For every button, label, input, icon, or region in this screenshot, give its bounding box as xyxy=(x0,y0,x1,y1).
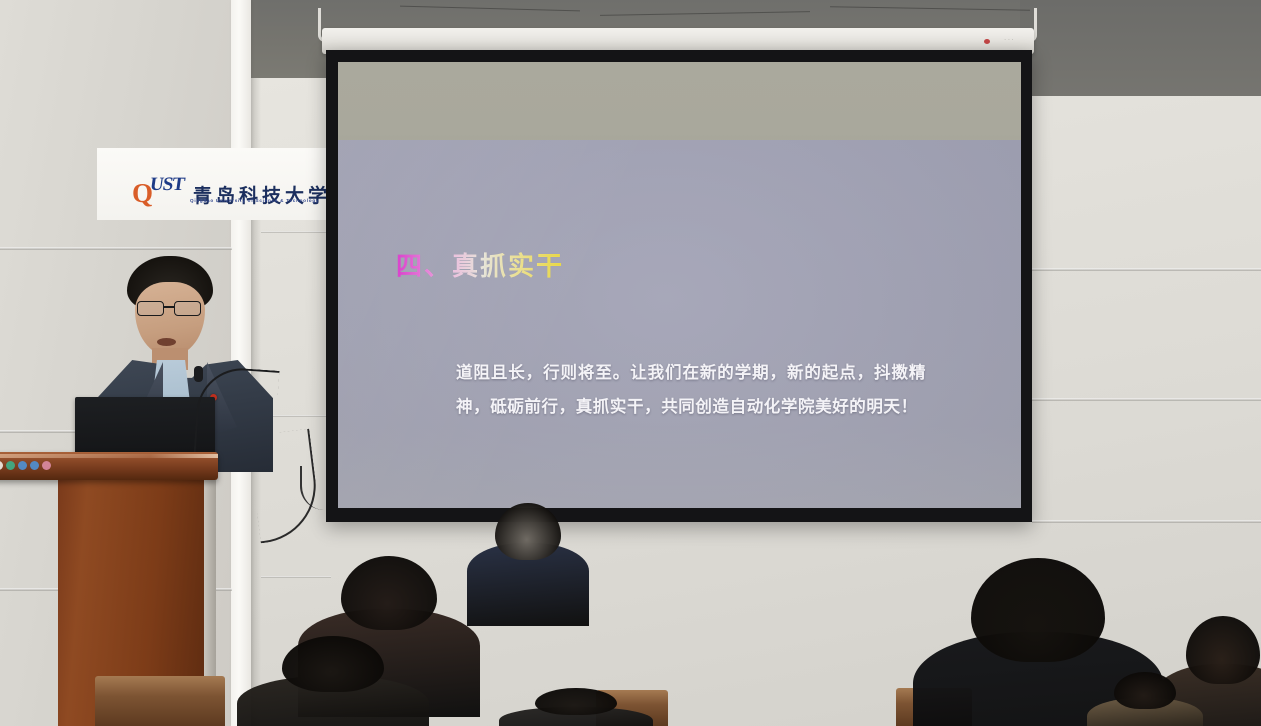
wall-seam xyxy=(0,247,232,250)
podium-control-button[interactable] xyxy=(18,461,27,470)
audience-head xyxy=(282,636,384,692)
projected-slide: 四、真抓实干 道阻且长，行则将至。让我们在新的学期，新的起点，抖擞精神，砥砺前行… xyxy=(338,140,1021,508)
wall-seam xyxy=(261,231,331,233)
speaker-glasses-icon xyxy=(136,301,204,316)
glasses-bridge xyxy=(164,306,175,308)
glasses-lens-left xyxy=(137,301,164,316)
logo-letters-ust: UST xyxy=(149,175,186,194)
audience-head xyxy=(1186,616,1261,684)
audience-head xyxy=(341,556,438,630)
podium-control-button[interactable] xyxy=(42,461,51,470)
wall-seam xyxy=(1032,268,1261,271)
chair-back-left xyxy=(95,676,225,726)
podium-control-buttons[interactable] xyxy=(0,461,51,470)
projector-screen-surface: 四、真抓实干 道阻且长，行则将至。让我们在新的学期，新的起点，抖擞精神，砥砺前行… xyxy=(338,62,1021,508)
projector-screen-frame: 四、真抓实干 道阻且长，行则将至。让我们在新的学期，新的起点，抖擞精神，砥砺前行… xyxy=(326,50,1032,522)
wall-seam xyxy=(1032,520,1261,523)
lecture-hall-scene: Q UST 青岛科技大学 Qingdao University of Scien… xyxy=(0,0,1261,726)
audience-head xyxy=(971,558,1104,662)
speaker-mouth xyxy=(157,338,176,346)
podium-control-button[interactable] xyxy=(6,461,15,470)
podium-desktop xyxy=(0,452,218,480)
qust-monogram-icon: Q UST xyxy=(132,172,186,206)
glasses-lens-right xyxy=(174,301,201,316)
screen-housing-label: · · · xyxy=(1004,37,1014,43)
podium-control-button[interactable] xyxy=(30,461,39,470)
screen-status-led-icon xyxy=(984,39,990,44)
slide-body-text: 道阻且长，行则将至。让我们在新的学期，新的起点，抖擞精神，砥砺前行，真抓实干，共… xyxy=(456,356,926,424)
seated-person-bottom-center xyxy=(516,688,636,726)
slide-title: 四、真抓实干 xyxy=(396,246,564,283)
upper-wall-band-right xyxy=(1020,0,1261,96)
audience-head xyxy=(495,503,560,560)
seated-man-grey-hair xyxy=(480,503,576,595)
university-chinese-name: 青岛科技大学 xyxy=(193,187,331,206)
wall-seam xyxy=(1032,398,1261,401)
audience-head xyxy=(1114,672,1175,709)
podium-desktop-highlight xyxy=(0,454,218,458)
university-english-name: Qingdao University of Science & Technolo… xyxy=(190,198,319,203)
audience-head xyxy=(535,688,617,715)
microphone-head-icon xyxy=(194,366,203,382)
seated-person-far-right xyxy=(1100,672,1190,726)
podium-control-button[interactable] xyxy=(0,461,3,470)
seated-person-dark-hair-left xyxy=(258,636,408,726)
